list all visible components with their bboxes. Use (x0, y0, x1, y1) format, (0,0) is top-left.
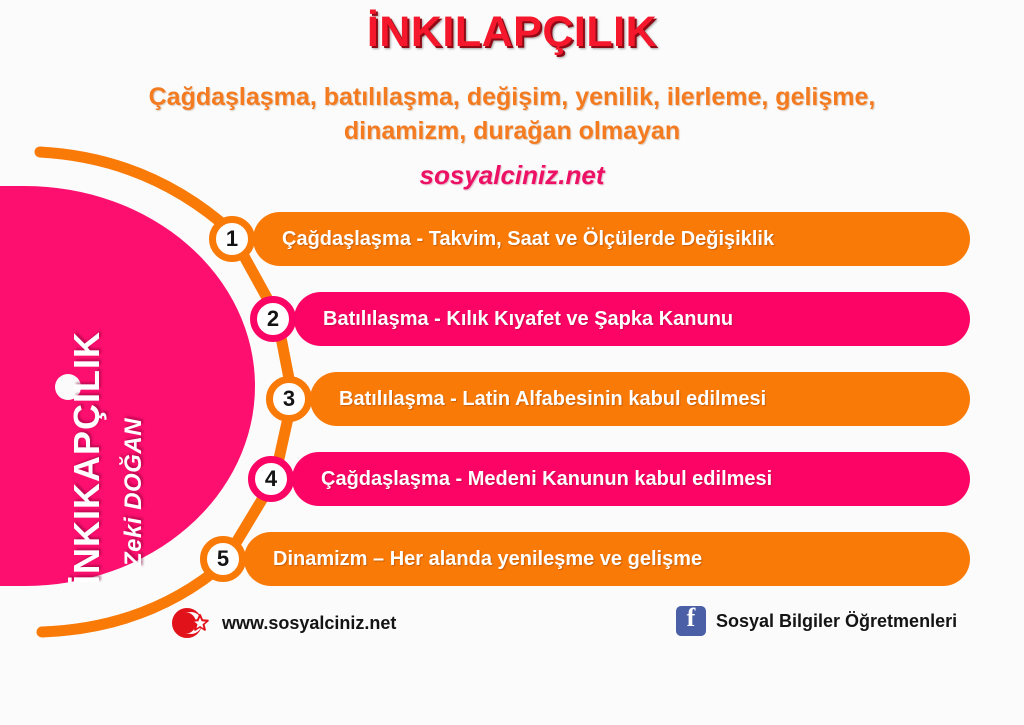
footer-website[interactable]: www.sosyalciniz.net (172, 608, 396, 638)
footer-facebook-label: Sosyal Bilgiler Öğretmenleri (716, 611, 957, 632)
row-label: Dinamizm – Her alanda yenileşme ve geliş… (273, 548, 702, 571)
facebook-f-glyph: f (676, 603, 706, 633)
row-bullet-3[interactable]: 3 (266, 376, 312, 422)
footer-facebook[interactable]: f Sosyal Bilgiler Öğretmenleri (676, 606, 957, 636)
footer-website-label: www.sosyalciniz.net (222, 613, 396, 634)
row-bullet-1[interactable]: 1 (209, 216, 255, 262)
row-bullet-4[interactable]: 4 (248, 456, 294, 502)
row-item[interactable]: Çağdaşlaşma - Takvim, Saat ve Ölçülerde … (253, 212, 970, 266)
turkish-flag-icon (172, 608, 210, 638)
row-item[interactable]: Batılılaşma - Latin Alfabesinin kabul ed… (310, 372, 970, 426)
row-label: Çağdaşlaşma - Takvim, Saat ve Ölçülerde … (282, 228, 774, 251)
facebook-icon: f (676, 606, 706, 636)
row-item[interactable]: Dinamizm – Her alanda yenileşme ve geliş… (244, 532, 970, 586)
row-label: Batılılaşma - Kılık Kıyafet ve Şapka Kan… (323, 308, 733, 331)
row-label: Çağdaşlaşma - Medeni Kanunun kabul edilm… (321, 468, 772, 491)
row-label: Batılılaşma - Latin Alfabesinin kabul ed… (339, 388, 766, 411)
row-bullet-number: 1 (226, 226, 238, 252)
row-bullet-number: 4 (265, 466, 277, 492)
row-bullet-number: 2 (267, 306, 279, 332)
row-bullet-number: 5 (217, 546, 229, 572)
row-bullet-2[interactable]: 2 (250, 296, 296, 342)
row-item[interactable]: Batılılaşma - Kılık Kıyafet ve Şapka Kan… (294, 292, 970, 346)
row-bullet-number: 3 (283, 386, 295, 412)
infographic-canvas: İNKILAPÇILIK Çağdaşlaşma, batılılaşma, d… (0, 0, 1024, 725)
row-bullet-5[interactable]: 5 (200, 536, 246, 582)
row-item[interactable]: Çağdaşlaşma - Medeni Kanunun kabul edilm… (292, 452, 970, 506)
